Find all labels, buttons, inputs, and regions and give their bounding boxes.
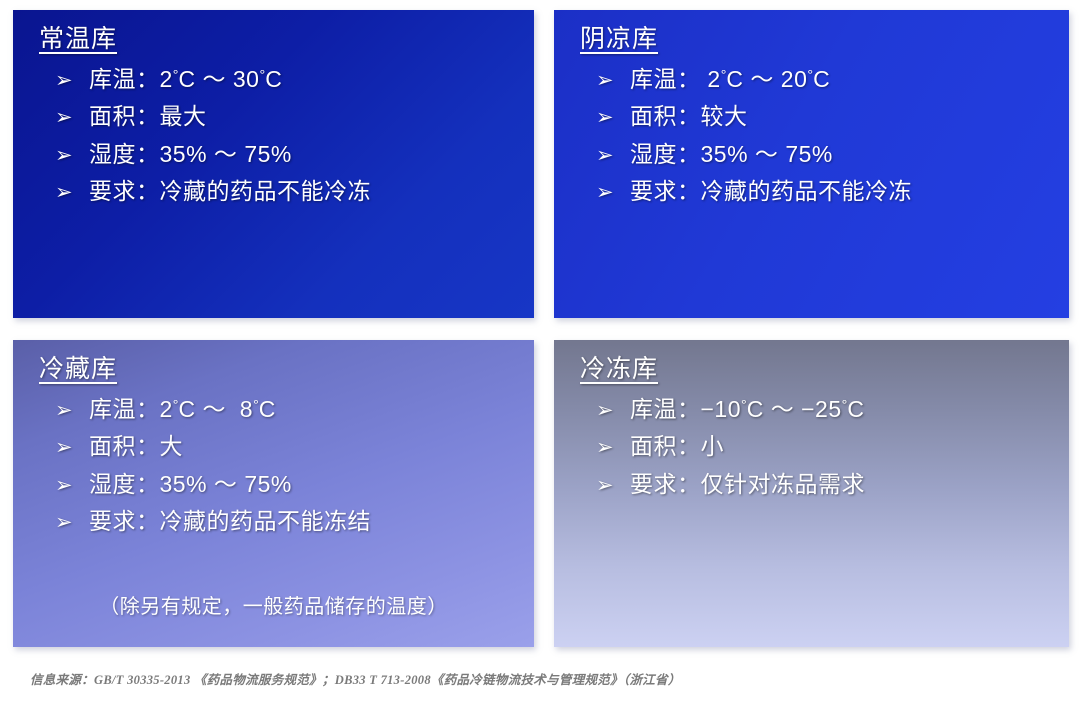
arrow-bullet-icon: ➢ (596, 145, 630, 166)
arrow-bullet-icon: ➢ (55, 70, 89, 91)
arrow-bullet-icon: ➢ (55, 107, 89, 128)
list-item-text: 要求：冷藏的药品不能冷冻 (89, 178, 371, 204)
list-item: ➢ 要求：冷藏的药品不能冷冻 (55, 178, 524, 204)
arrow-bullet-icon: ➢ (596, 437, 630, 458)
arrow-bullet-icon: ➢ (55, 145, 89, 166)
arrow-bullet-icon: ➢ (596, 400, 630, 421)
panel-bullet-list: ➢ 库温：−10°C ～ −25°C ➢ 面积：小 ➢ 要求：仅针对冻品需求 (596, 396, 1059, 508)
list-item-text: 湿度：35% ～ 75% (89, 471, 292, 497)
arrow-bullet-icon: ➢ (596, 70, 630, 91)
arrow-bullet-icon: ➢ (55, 437, 89, 458)
list-item: ➢ 湿度：35% ～ 75% (55, 471, 524, 497)
list-item: ➢ 面积：最大 (55, 103, 524, 129)
list-item-text: 湿度：35% ～ 75% (630, 141, 833, 167)
list-item-text: 面积：最大 (89, 103, 207, 129)
list-item: ➢ 面积：较大 (596, 103, 1059, 129)
list-item-text: 库温：2°C ～ 8°C (89, 396, 276, 422)
arrow-bullet-icon: ➢ (596, 475, 630, 496)
slide-canvas: 常温库 ➢ 库温：2°C ～ 30°C ➢ 面积：最大 ➢ 湿度：35% ～ 7… (0, 0, 1080, 703)
arrow-bullet-icon: ➢ (55, 182, 89, 203)
panel-title: 阴凉库 (580, 24, 658, 55)
panel-cool-warehouse: 阴凉库 ➢ 库温： 2°C ～ 20°C ➢ 面积：较大 ➢ 湿度：35% ～ … (554, 10, 1069, 318)
list-item-text: 库温：2°C ～ 30°C (89, 66, 282, 92)
arrow-bullet-icon: ➢ (55, 475, 89, 496)
list-item-text: 要求：冷藏的药品不能冷冻 (630, 178, 912, 204)
list-item-text: 面积：大 (89, 433, 183, 459)
panel-title: 常温库 (39, 24, 117, 55)
panel-cold-storage-warehouse: 冷藏库 ➢ 库温：2°C ～ 8°C ➢ 面积：大 ➢ 湿度：35% ～ 75%… (13, 340, 534, 647)
panel-title: 冷冻库 (580, 354, 658, 385)
arrow-bullet-icon: ➢ (55, 512, 89, 533)
list-item: ➢ 要求：冷藏的药品不能冷冻 (596, 178, 1059, 204)
list-item: ➢ 面积：大 (55, 433, 524, 459)
panel-bullet-list: ➢ 库温：2°C ～ 30°C ➢ 面积：最大 ➢ 湿度：35% ～ 75% ➢… (55, 66, 524, 216)
list-item: ➢ 库温：−10°C ～ −25°C (596, 396, 1059, 422)
arrow-bullet-icon: ➢ (596, 107, 630, 128)
list-item: ➢ 库温：2°C ～ 8°C (55, 396, 524, 422)
list-item-text: 要求：冷藏的药品不能冻结 (89, 508, 371, 534)
panel-normal-temperature-warehouse: 常温库 ➢ 库温：2°C ～ 30°C ➢ 面积：最大 ➢ 湿度：35% ～ 7… (13, 10, 534, 318)
list-item-text: 面积：小 (630, 433, 724, 459)
list-item-text: 面积：较大 (630, 103, 748, 129)
list-item-text: 湿度：35% ～ 75% (89, 141, 292, 167)
list-item-text: 要求：仅针对冻品需求 (630, 471, 865, 497)
panel-freezer-warehouse: 冷冻库 ➢ 库温：−10°C ～ −25°C ➢ 面积：小 ➢ 要求：仅针对冻品… (554, 340, 1069, 647)
list-item: ➢ 要求：冷藏的药品不能冻结 (55, 508, 524, 534)
list-item: ➢ 库温：2°C ～ 30°C (55, 66, 524, 92)
list-item: ➢ 湿度：35% ～ 75% (596, 141, 1059, 167)
arrow-bullet-icon: ➢ (55, 400, 89, 421)
list-item: ➢ 要求：仅针对冻品需求 (596, 471, 1059, 497)
source-note: 信息来源：GB/T 30335-2013 《药品物流服务规范》；DB33 T 7… (30, 669, 681, 688)
arrow-bullet-icon: ➢ (596, 182, 630, 203)
panel-title: 冷藏库 (39, 354, 117, 385)
list-item-text: 库温：−10°C ～ −25°C (630, 396, 864, 422)
list-item: ➢ 库温： 2°C ～ 20°C (596, 66, 1059, 92)
panel-footnote: （除另有规定，一般药品储存的温度） (13, 590, 534, 619)
list-item: ➢ 湿度：35% ～ 75% (55, 141, 524, 167)
panel-bullet-list: ➢ 库温：2°C ～ 8°C ➢ 面积：大 ➢ 湿度：35% ～ 75% ➢ 要… (55, 396, 524, 546)
list-item-text: 库温： 2°C ～ 20°C (630, 66, 830, 92)
panel-bullet-list: ➢ 库温： 2°C ～ 20°C ➢ 面积：较大 ➢ 湿度：35% ～ 75% … (596, 66, 1059, 216)
list-item: ➢ 面积：小 (596, 433, 1059, 459)
